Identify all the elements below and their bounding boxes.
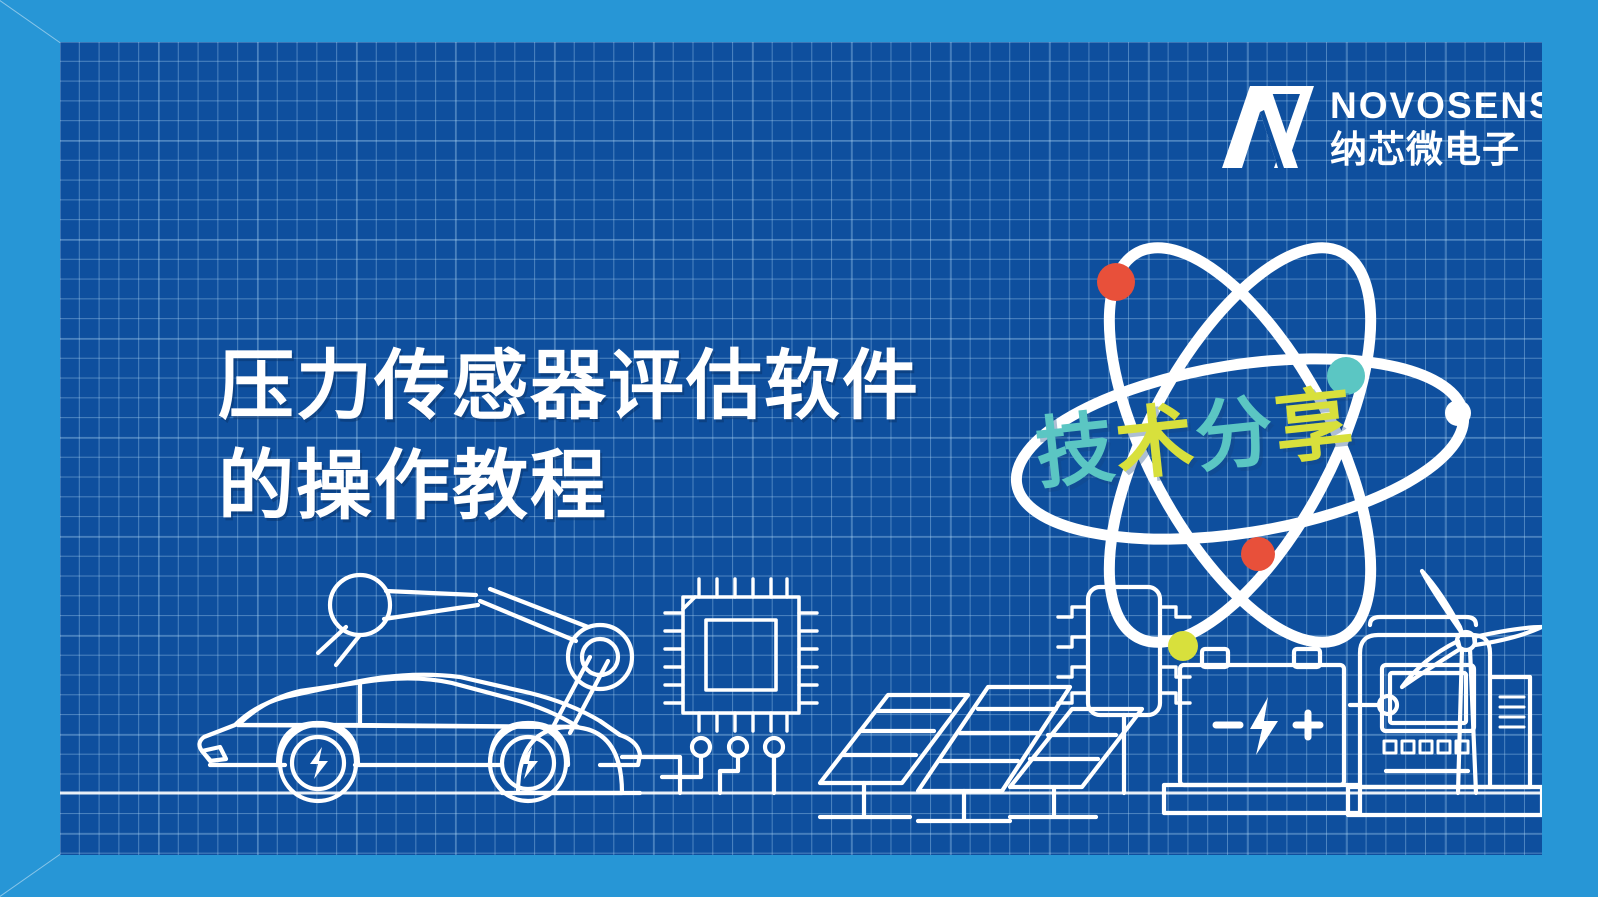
page-title: 压力传感器评估软件 的操作教程 [218, 337, 920, 538]
electron-lime-bottom [1168, 631, 1198, 661]
pcb-via-3 [765, 738, 783, 756]
pcb-via-2 [729, 738, 747, 756]
brand-logo: NOVOSENSE 纳芯微电子 [1220, 84, 1542, 170]
electric-car [199, 675, 640, 801]
badge-char-4: 享 [1270, 378, 1359, 474]
microchip-qfp [662, 579, 817, 793]
badge-char-2: 术 [1111, 394, 1200, 490]
badge-char-1: 技 [1032, 403, 1121, 499]
slide-canvas: 技术分享 压力传感器评估软件 的操作教程 NOVOSENSE 纳芯微电子 [0, 0, 1598, 897]
pcb-via-1 [692, 738, 710, 756]
solar-panels [820, 687, 1142, 821]
novosense-n-monogram-icon [1220, 84, 1316, 170]
brand-name-en: NOVOSENSE [1330, 87, 1542, 124]
robot-joint-wrist [330, 575, 390, 635]
badge-char-3: 分 [1191, 386, 1280, 482]
brand-name-cn: 纳芯微电子 [1330, 131, 1542, 168]
electron-red-top [1097, 263, 1135, 301]
electron-red-center [1241, 537, 1275, 571]
blueprint-panel: 技术分享 压力传感器评估软件 的操作教程 NOVOSENSE 纳芯微电子 [60, 42, 1542, 855]
